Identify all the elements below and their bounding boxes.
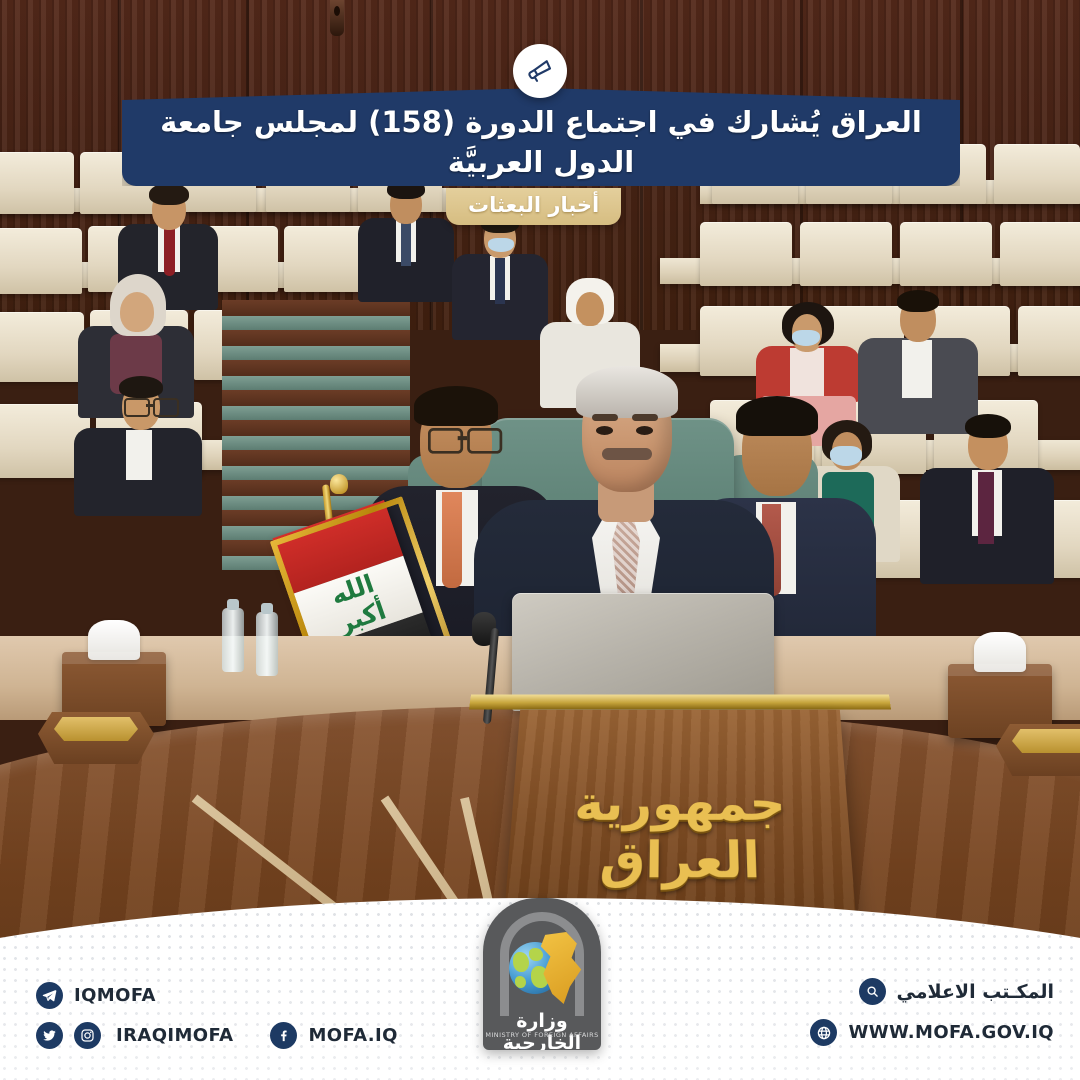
flag-finial xyxy=(330,474,348,494)
headline-banner: العراق يُشارك في اجتماع الدورة (158) لمج… xyxy=(122,88,960,186)
speaker-moustache xyxy=(602,448,652,460)
chamber-seat xyxy=(1018,306,1080,376)
footer-right-block: المكـتب الاعلامي WWW.MOFA.GOV.IQ xyxy=(810,978,1054,1046)
news-card: الله أكبر xyxy=(0,0,1080,1080)
search-icon[interactable] xyxy=(859,978,886,1005)
category-tag[interactable]: أخبار البعثات xyxy=(446,188,621,225)
media-office-label: المكـتب الاعلامي xyxy=(897,981,1054,1003)
telegram-icon[interactable] xyxy=(36,982,63,1009)
facebook-handle: MOFA.IQ xyxy=(308,1025,397,1046)
chamber-seat xyxy=(0,152,74,214)
website-row[interactable]: WWW.MOFA.GOV.IQ xyxy=(810,1019,1054,1046)
social-row-telegram[interactable]: IQMOFA xyxy=(36,982,156,1009)
brass-bowl xyxy=(38,712,154,764)
chamber-seat xyxy=(900,222,992,286)
water-bottle xyxy=(256,612,278,676)
speaker-hair xyxy=(576,366,678,418)
instagram-handle: IRAQIMOFA xyxy=(116,1025,233,1046)
website-url[interactable]: WWW.MOFA.GOV.IQ xyxy=(848,1022,1054,1043)
twitter-icon[interactable] xyxy=(36,1022,63,1049)
instagram-icon[interactable] xyxy=(74,1022,101,1049)
nameplate-gold-trim xyxy=(469,695,891,710)
nameplate-text: جمهورية العراق xyxy=(506,776,854,889)
ceiling-fixture xyxy=(330,0,344,36)
telegram-handle: IQMOFA xyxy=(74,985,156,1006)
audience-person xyxy=(358,178,454,296)
mofa-iraq-logo: وزارة الخارجية MINISTRY OF FOREIGN AFFAI… xyxy=(483,898,601,1050)
audience-person xyxy=(74,372,202,502)
audience-person xyxy=(452,212,548,332)
social-row-twitter-instagram[interactable]: IRAQIMOFA MOFA.IQ xyxy=(36,1022,398,1049)
facebook-icon[interactable] xyxy=(270,1022,297,1049)
logo-english-name: MINISTRY OF FOREIGN AFFAIRS xyxy=(483,1031,601,1039)
chamber-seat xyxy=(994,144,1080,204)
globe-icon[interactable] xyxy=(810,1019,837,1046)
megaphone-icon xyxy=(525,56,555,86)
chamber-seat xyxy=(1000,222,1080,286)
chamber-seat xyxy=(0,312,84,382)
audience-person xyxy=(920,412,1054,582)
laptop xyxy=(512,593,774,711)
brass-bowl xyxy=(996,724,1080,776)
chamber-seat xyxy=(800,222,892,286)
chamber-seat xyxy=(0,228,82,294)
chamber-seat xyxy=(700,222,792,286)
water-bottle xyxy=(222,608,244,672)
logo-arabic-name: وزارة الخارجية xyxy=(483,1010,601,1050)
media-office-row[interactable]: المكـتب الاعلامي xyxy=(859,978,1054,1005)
megaphone-badge xyxy=(513,44,567,98)
headline-line-1: العراق يُشارك في اجتماع الدورة (158) لمج… xyxy=(160,105,922,179)
